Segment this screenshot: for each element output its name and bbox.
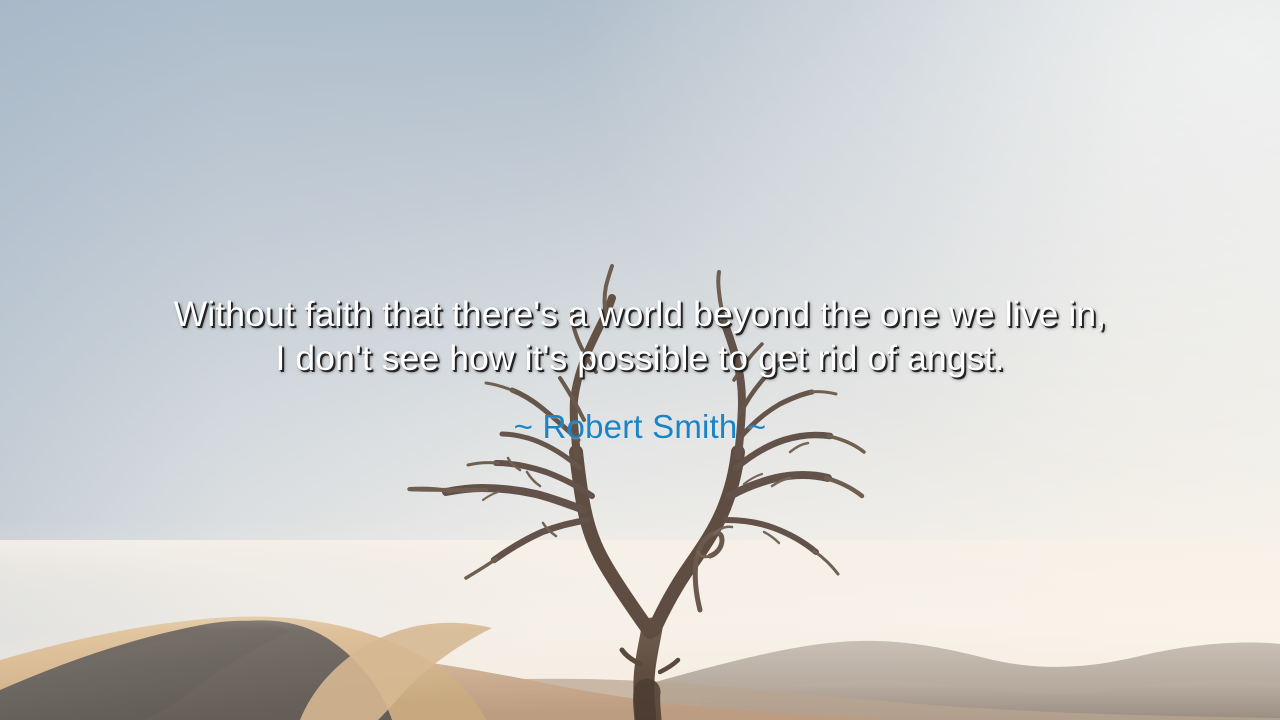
tree-branch-right-3-ext	[814, 551, 838, 574]
tree-branch-left-5-tip	[486, 383, 514, 391]
quote-text-block: Without faith that there's a world beyon…	[0, 292, 1280, 380]
tree-trunk-lower-flare	[647, 692, 648, 720]
tree-twig-left-d	[483, 492, 498, 500]
tree-branch-left-2	[494, 520, 588, 560]
tree-twig-right-c	[764, 532, 779, 543]
quote-image-canvas: Without faith that there's a world beyon…	[0, 0, 1280, 720]
quote-attribution: ~ Robert Smith ~	[0, 406, 1280, 448]
quote-line-1: Without faith that there's a world beyon…	[0, 292, 1280, 336]
tree-branch-right-1	[730, 475, 828, 496]
tree-branch-right-4-ext	[810, 392, 836, 394]
tree-stub-right	[660, 660, 678, 672]
tree-branch-right-1-ext	[826, 478, 862, 496]
quote-line-2: I don't see how it's possible to get rid…	[0, 336, 1280, 380]
tree-limb-left-main	[576, 452, 650, 632]
tree-branch-left-1-ext	[409, 489, 486, 491]
tree-branch-left-2-tip	[466, 559, 496, 578]
tree-twig-left-b	[527, 472, 540, 486]
